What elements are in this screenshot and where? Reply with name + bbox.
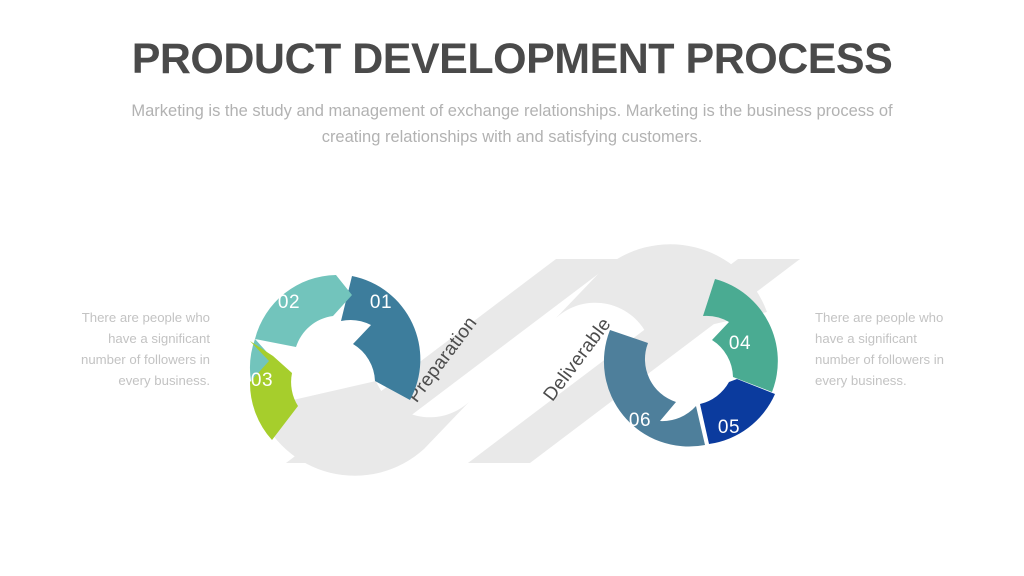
donut-segment-04-label: 04 <box>729 333 751 354</box>
diagram-svg: Preparation Deliverable 01 02 03 04 <box>0 0 1024 576</box>
donut-segment-05-label: 05 <box>718 417 740 438</box>
slide-root: PRODUCT DEVELOPMENT PROCESS Marketing is… <box>0 0 1024 576</box>
donut-segment-01-label: 01 <box>370 292 392 313</box>
donut-segment-02-label: 02 <box>278 292 300 313</box>
donut-segment-06-label: 06 <box>629 410 651 431</box>
donut-segment-02[interactable] <box>250 275 352 381</box>
side-note-right: There are people who have a significant … <box>815 308 950 391</box>
infographic-diagram: Preparation Deliverable 01 02 03 04 <box>0 0 1024 576</box>
side-note-left: There are people who have a significant … <box>75 308 210 391</box>
donut-segment-03-label: 03 <box>251 370 273 391</box>
